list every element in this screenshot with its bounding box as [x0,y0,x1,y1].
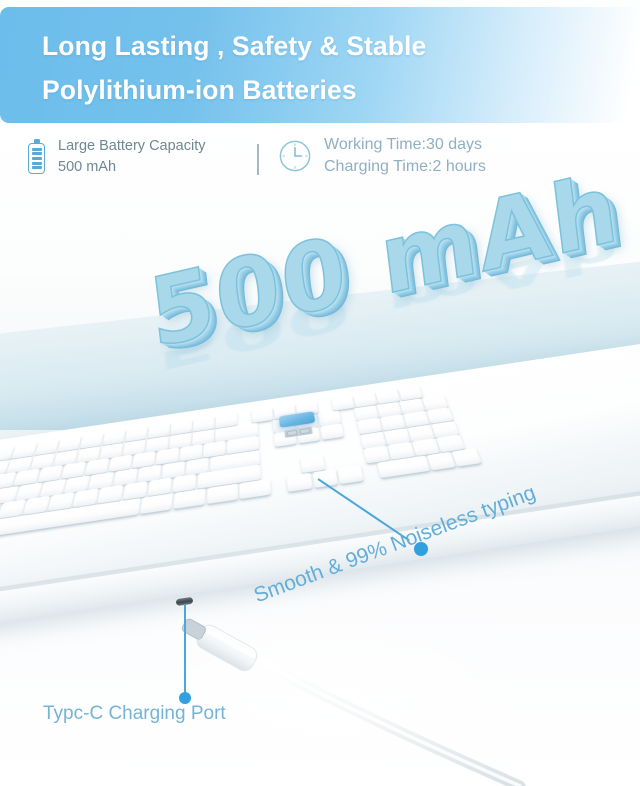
banner-title-line2: Polylithium-ion Batteries [42,75,357,106]
keyboard-key[interactable] [287,473,312,492]
keyboard-key[interactable] [173,488,205,509]
feature-battery-text: Large Battery Capacity 500 mAh [58,136,206,178]
product-infographic: 500 mAh 500 mAh [0,0,640,786]
feature-working-time: Working Time:30 days Charging Time:2 hou… [278,134,486,178]
keyboard-key[interactable] [427,452,456,471]
keyboard-key[interactable] [240,479,272,499]
feature-time-line2: Charging Time:2 hours [324,156,486,178]
keyboard-key[interactable] [331,396,354,411]
battery-icon [28,139,47,175]
keyboard-key[interactable] [140,493,173,514]
keyboard-key[interactable] [57,436,81,452]
feature-divider [257,144,259,175]
feature-battery-capacity: Large Battery Capacity 500 mAh [28,136,206,178]
banner-title-line1: Long Lasting , Safety & Stable [42,31,426,62]
feature-time-text: Working Time:30 days Charging Time:2 hou… [324,134,486,178]
keyboard-key[interactable] [320,423,344,440]
keyboard-key[interactable] [34,439,59,455]
keyboard-key[interactable] [452,448,481,467]
callout-line-typec [184,604,186,696]
callout-label-typec: Typc-C Charging Port [43,703,226,725]
feature-battery-line2: 500 mAh [58,157,206,178]
feature-time-line1: Working Time:30 days [324,134,486,156]
feature-strip: Large Battery Capacity 500 mAh Working T… [0,128,640,194]
battery-icon-body [28,143,45,174]
clock-icon [278,139,312,173]
feature-battery-line1: Large Battery Capacity [58,136,206,157]
keyboard-key[interactable] [12,443,37,459]
keyboard-key[interactable] [337,465,363,484]
keyboard-key[interactable] [252,407,274,423]
keyboard-key[interactable] [207,484,238,505]
header-banner: Long Lasting , Safety & Stable Polylithi… [0,7,640,123]
